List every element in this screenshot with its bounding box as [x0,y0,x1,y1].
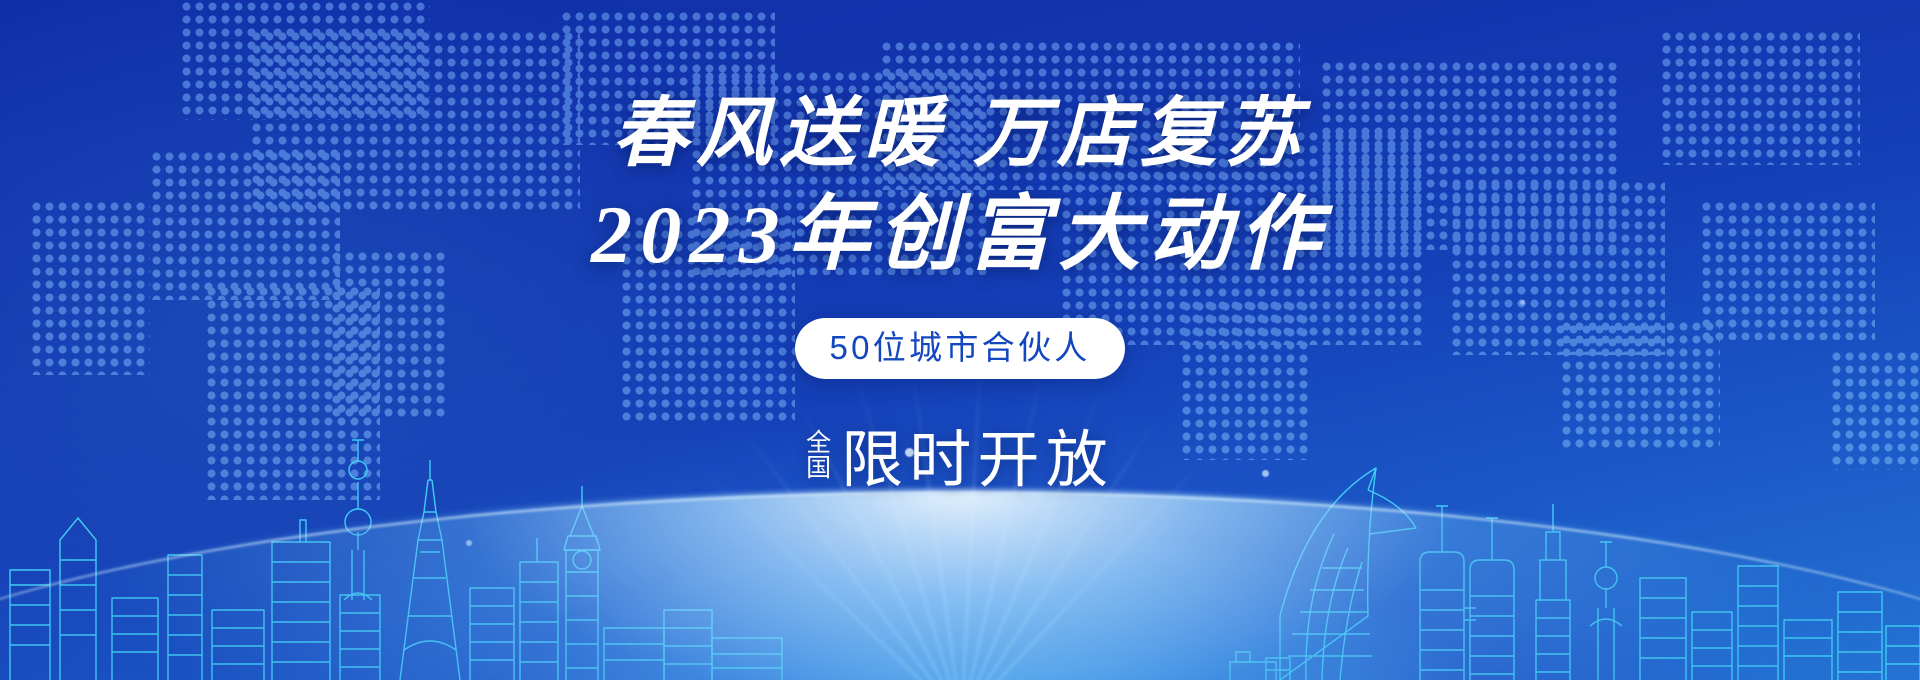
banner-content: 春风送暖 万店复苏 2023年创富大动作 50位城市合伙人 全 国 限时开放 [0,0,1920,499]
tagline-prefix: 全 国 [806,431,831,482]
tagline: 全 国 限时开放 [806,409,1114,499]
sparkle-dot [466,540,472,546]
headline-line-1: 春风送暖 万店复苏 [612,96,1307,172]
promo-banner: 春风送暖 万店复苏 2023年创富大动作 50位城市合伙人 全 国 限时开放 [0,0,1920,680]
headline-line-2: 2023年创富大动作 [591,194,1329,276]
tagline-prefix-char-1: 全 [806,431,831,457]
partner-count-badge: 50位城市合伙人 [795,318,1124,379]
tagline-main: 限时开放 [841,409,1114,499]
tagline-prefix-char-2: 国 [806,456,831,482]
